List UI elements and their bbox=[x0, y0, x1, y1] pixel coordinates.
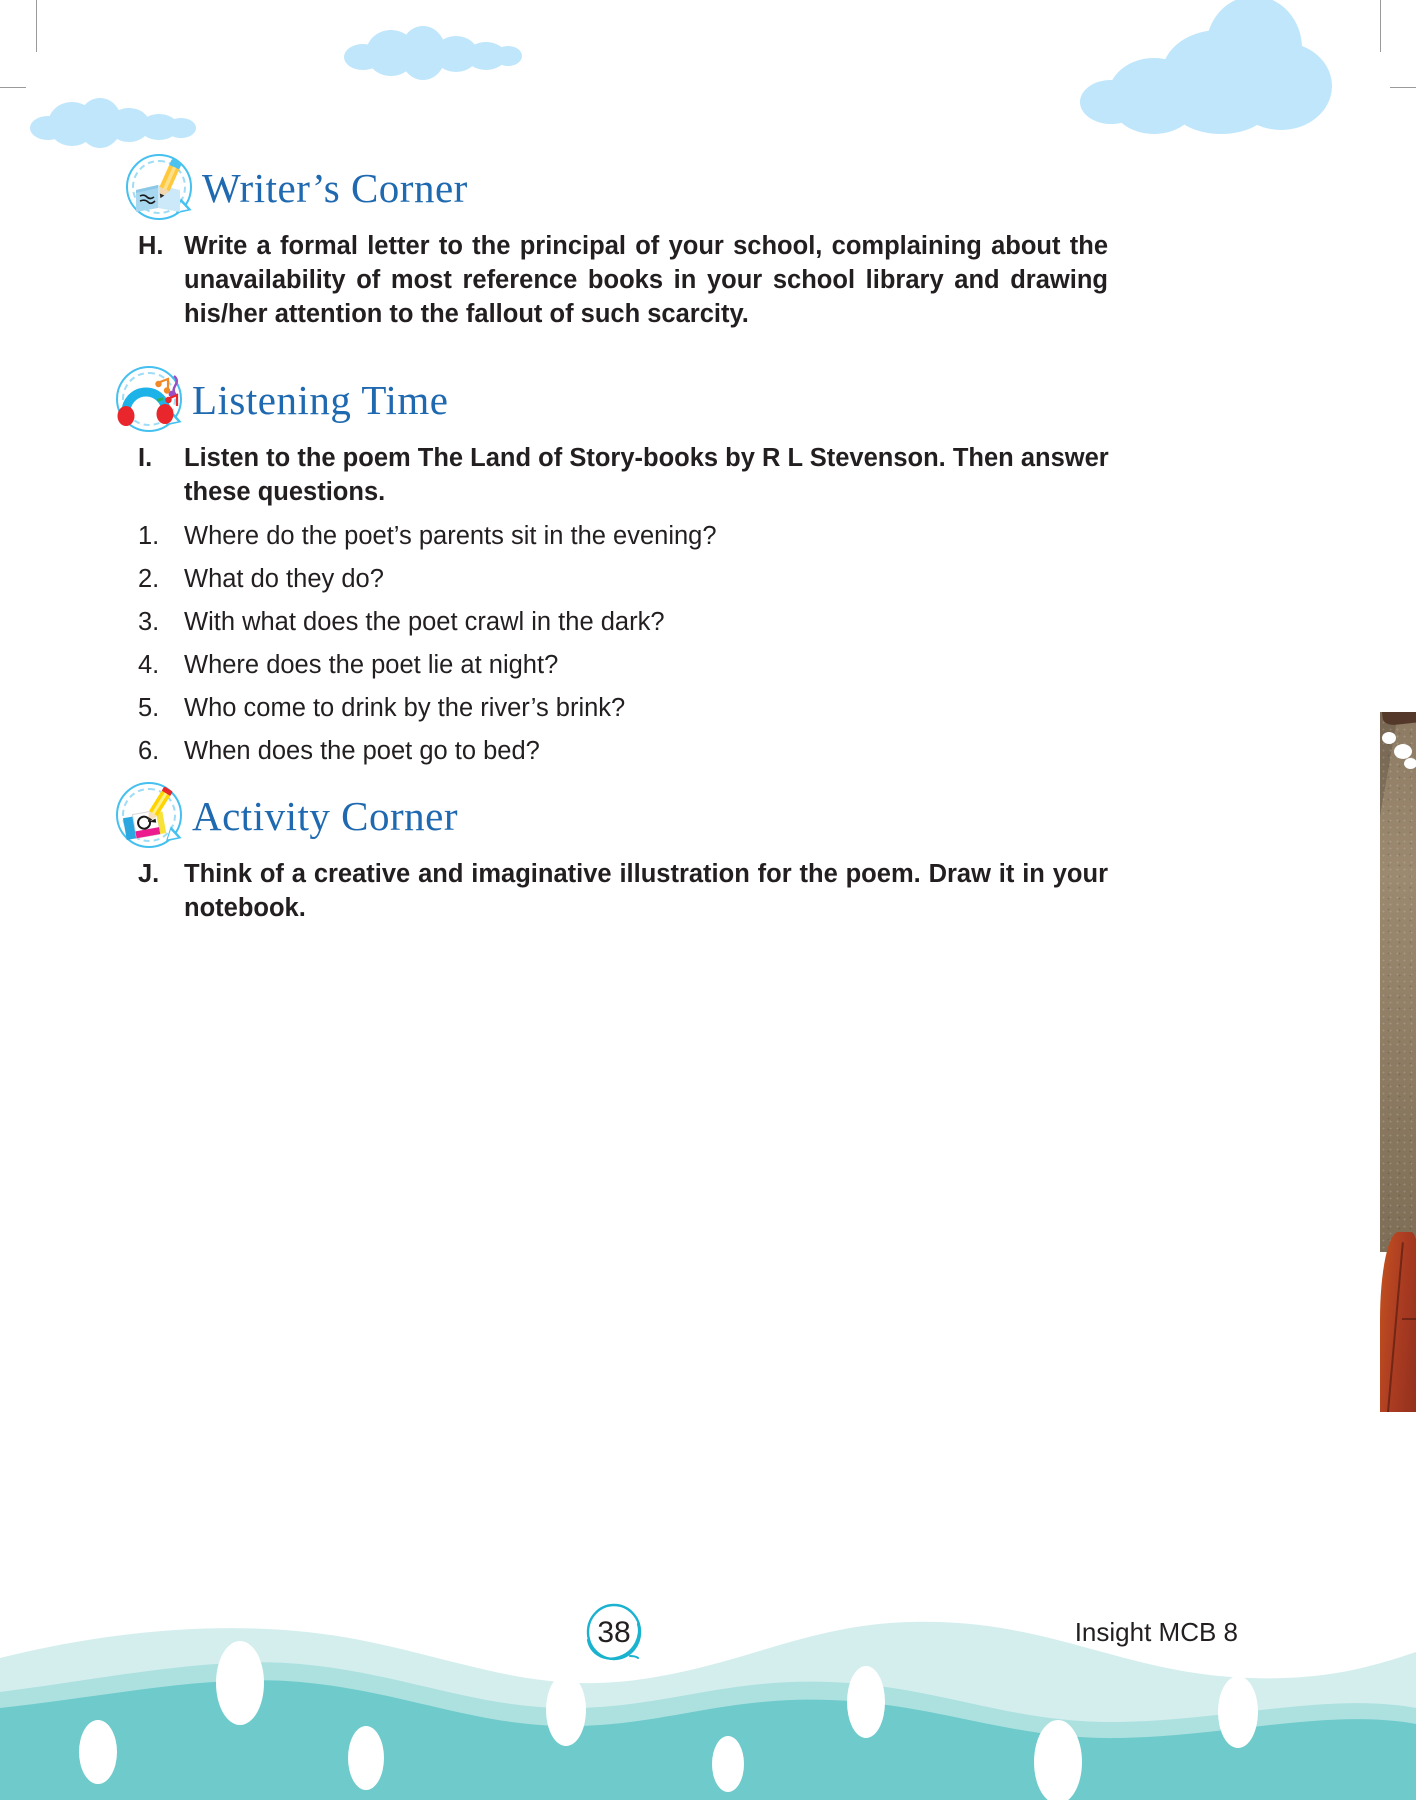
crop-mark-top-left-horizontal bbox=[0, 87, 26, 88]
section-heading-activity-corner: Activity Corner bbox=[112, 780, 458, 852]
page-number-badge: 38 bbox=[582, 1602, 646, 1664]
listening-question-4: 4. Where does the poet lie at night? bbox=[138, 649, 1038, 683]
crop-mark-top-right-horizontal bbox=[1390, 87, 1416, 88]
question-5-marker: 5. bbox=[138, 692, 184, 726]
section-title-activity-corner: Activity Corner bbox=[192, 792, 458, 840]
question-6-text: When does the poet go to bed? bbox=[184, 735, 540, 769]
instruction-i-text: Listen to the poem The Land of Story-boo… bbox=[184, 442, 1113, 510]
instruction-i-marker: I. bbox=[138, 442, 184, 510]
listening-question-1: 1. Where do the poet’s parents sit in th… bbox=[138, 520, 1038, 554]
crop-mark-top-left-vertical bbox=[36, 0, 37, 52]
instruction-i: I. Listen to the poem The Land of Story-… bbox=[138, 442, 1113, 510]
listening-question-6: 6. When does the poet go to bed? bbox=[138, 735, 1038, 769]
cloud-small-center bbox=[344, 26, 524, 82]
section-heading-listening-time: Listening Time bbox=[112, 364, 448, 436]
listening-question-2: 2. What do they do? bbox=[138, 563, 1038, 597]
question-5-text: Who come to drink by the river’s brink? bbox=[184, 692, 625, 726]
listening-question-3: 3. With what does the poet crawl in the … bbox=[138, 606, 1038, 640]
notebook-pencil-icon bbox=[122, 152, 198, 224]
instruction-h-text: Write a formal letter to the principal o… bbox=[184, 230, 1108, 332]
orange-vessel-shape bbox=[1380, 1232, 1416, 1412]
instruction-j: J. Think of a creative and imaginative i… bbox=[138, 858, 1108, 926]
section-heading-writers-corner: Writer’s Corner bbox=[122, 152, 468, 224]
question-1-text: Where do the poet’s parents sit in the e… bbox=[184, 520, 717, 554]
question-4-text: Where does the poet lie at night? bbox=[184, 649, 558, 683]
wooden-pole-shape bbox=[1380, 712, 1416, 1252]
white-dot-1 bbox=[1382, 732, 1396, 744]
section-title-listening-time: Listening Time bbox=[192, 376, 448, 424]
book-title-label: Insight MCB 8 bbox=[1075, 1617, 1238, 1648]
headphones-music-icon bbox=[112, 364, 188, 436]
white-dot-3 bbox=[1404, 758, 1416, 769]
question-1-marker: 1. bbox=[138, 520, 184, 554]
instruction-j-text: Think of a creative and imaginative illu… bbox=[184, 858, 1108, 926]
instruction-j-marker: J. bbox=[138, 858, 184, 926]
cloud-small-left bbox=[30, 98, 200, 148]
question-4-marker: 4. bbox=[138, 649, 184, 683]
question-2-marker: 2. bbox=[138, 563, 184, 597]
textbook-page: Writer’s Corner H. Write a formal letter… bbox=[0, 0, 1416, 1800]
instruction-h-marker: H. bbox=[138, 230, 184, 332]
listening-question-5: 5. Who come to drink by the river’s brin… bbox=[138, 692, 1038, 726]
pencil-card-icon bbox=[112, 780, 188, 852]
question-3-marker: 3. bbox=[138, 606, 184, 640]
question-3-text: With what does the poet crawl in the dar… bbox=[184, 606, 665, 640]
white-dot-2 bbox=[1394, 744, 1412, 759]
crop-mark-top-right-vertical bbox=[1380, 0, 1381, 52]
question-6-marker: 6. bbox=[138, 735, 184, 769]
question-2-text: What do they do? bbox=[184, 563, 384, 597]
page-number: 38 bbox=[582, 1602, 646, 1664]
edge-bleed-illustration bbox=[1380, 712, 1416, 1412]
section-title-writers-corner: Writer’s Corner bbox=[202, 164, 468, 212]
instruction-h: H. Write a formal letter to the principa… bbox=[138, 230, 1108, 332]
cloud-large-right bbox=[1080, 0, 1380, 146]
